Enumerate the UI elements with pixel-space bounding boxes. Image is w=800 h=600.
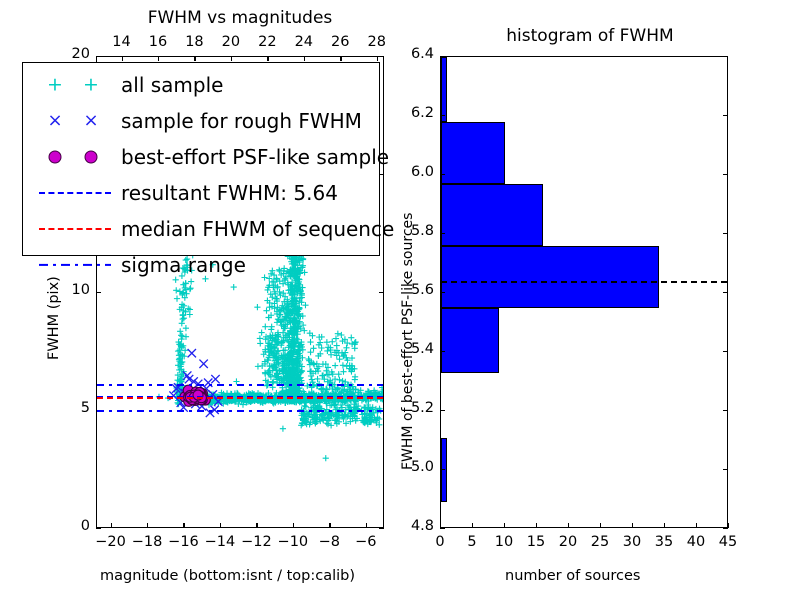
- legend-marker-dashed-line-icon: [29, 178, 121, 208]
- histogram-xtick: [632, 523, 633, 528]
- legend-entry: sigma range: [29, 247, 373, 283]
- legend-label: best-effort PSF-like sample: [121, 145, 389, 169]
- sigma-range-upper-line: [97, 384, 383, 386]
- histogram-ytick-right: [723, 469, 728, 470]
- histogram-xtick-label: 25: [583, 534, 617, 550]
- histogram-xtick: [504, 523, 505, 528]
- legend-label: resultant FWHM: 5.64: [121, 181, 338, 205]
- scatter-xtick: [366, 523, 367, 528]
- histogram-ytick: [440, 469, 445, 470]
- scatter-xtick: [183, 523, 184, 528]
- legend-marker-cross-icon: ××: [29, 106, 121, 136]
- legend-marker-plus-icon: ++: [29, 70, 121, 100]
- scatter-top-xtick-label: 20: [216, 34, 246, 50]
- histogram-ytick-label: 4.8: [396, 518, 434, 534]
- histogram-axes: [440, 56, 728, 528]
- histogram-xtick-label: 35: [647, 534, 681, 550]
- histogram-xtick-label: 10: [487, 534, 521, 550]
- scatter-xtick-label: −12: [239, 534, 273, 550]
- histogram-title: histogram of FWHM: [440, 26, 740, 46]
- histogram-xtick-label: 45: [711, 534, 745, 550]
- histogram-bar: [441, 246, 659, 308]
- histogram-xtick-label: 5: [455, 534, 489, 550]
- scatter-xtick-label: −14: [203, 534, 237, 550]
- histogram-ytick-right: [723, 351, 728, 352]
- histogram-ytick: [440, 233, 445, 234]
- histogram-resultant-fwhm-line: [441, 281, 727, 283]
- scatter-yaxis-label: FWHM (pix): [46, 276, 62, 360]
- histogram-ytick-label: 6.4: [396, 46, 434, 62]
- scatter-xtick: [293, 523, 294, 528]
- histogram-ytick: [440, 410, 445, 411]
- scatter-xtick-label: −20: [94, 534, 128, 550]
- histogram-bar: [441, 184, 543, 246]
- scatter-top-xtick: [231, 56, 232, 61]
- legend-marker-circle-icon: [29, 142, 121, 172]
- scatter-xtick: [147, 523, 148, 528]
- histogram-bar: [441, 57, 447, 122]
- scatter-xtick-label: −10: [276, 534, 310, 550]
- histogram-ytick: [440, 174, 445, 175]
- plot-legend: ++all sample××sample for rough FWHMbest-…: [22, 62, 380, 256]
- scatter-xtick: [111, 523, 112, 528]
- scatter-xaxis-label: magnitude (bottom:isnt / top:calib): [100, 568, 355, 584]
- scatter-top-xtick-label: 24: [289, 34, 319, 50]
- histogram-ytick-right: [723, 292, 728, 293]
- scatter-top-xtick-label: 14: [107, 34, 137, 50]
- histogram-xtick-label: 20: [551, 534, 585, 550]
- histogram-ytick-right: [723, 115, 728, 116]
- scatter-xtick-label: −18: [130, 534, 164, 550]
- scatter-top-xtick-label: 18: [179, 34, 209, 50]
- legend-label: sample for rough FWHM: [121, 109, 362, 133]
- histogram-bar: [441, 122, 505, 184]
- scatter-xtick-label: −6: [349, 534, 383, 550]
- scatter-top-xtick: [267, 56, 268, 61]
- histogram-xtick: [664, 523, 665, 528]
- scatter-ytick-right: [379, 292, 384, 293]
- legend-entry: resultant FWHM: 5.64: [29, 175, 373, 211]
- histogram-xtick: [472, 523, 473, 528]
- histogram-yaxis-label: FWHM of best-effort PSF-like sources: [400, 213, 416, 470]
- legend-entry: best-effort PSF-like sample: [29, 139, 373, 175]
- histogram-ytick-right: [723, 233, 728, 234]
- scatter-ytick-right: [379, 56, 384, 57]
- histogram-bar: [441, 308, 499, 373]
- histogram-xtick: [728, 523, 729, 528]
- scatter-ytick-right: [379, 528, 384, 529]
- scatter-xtick-label: −8: [312, 534, 346, 550]
- figure-canvas: FWHM vs magnitudes −20−18−16−14−12−10−8−…: [0, 0, 800, 600]
- scatter-xtick: [220, 523, 221, 528]
- scatter-xtick-label: −16: [166, 534, 200, 550]
- legend-entry: median FHWM of sequence: [29, 211, 373, 247]
- scatter-top-xtick-label: 28: [362, 34, 392, 50]
- histogram-xtick-label: 0: [423, 534, 457, 550]
- scatter-top-xtick-label: 22: [252, 34, 282, 50]
- histogram-ytick: [440, 56, 445, 57]
- histogram-ytick-label: 6.0: [396, 164, 434, 180]
- scatter-top-xtick: [304, 56, 305, 61]
- histogram-ytick-right: [723, 56, 728, 57]
- legend-label: all sample: [121, 73, 223, 97]
- scatter-ytick: [96, 292, 101, 293]
- scatter-xtick: [329, 523, 330, 528]
- histogram-ytick-right: [723, 410, 728, 411]
- scatter-top-xtick: [377, 56, 378, 61]
- histogram-ytick-label: 6.2: [396, 105, 434, 121]
- scatter-ytick-label: 0: [54, 518, 90, 534]
- legend-marker-dashed-line-icon: [29, 214, 121, 244]
- histogram-xtick-label: 30: [615, 534, 649, 550]
- histogram-xtick: [536, 523, 537, 528]
- scatter-ytick: [96, 528, 101, 529]
- scatter-ytick: [96, 56, 101, 57]
- legend-entry: ××sample for rough FWHM: [29, 103, 373, 139]
- histogram-xtick-label: 40: [679, 534, 713, 550]
- sigma-range-lower-line: [97, 410, 383, 412]
- histogram-ytick: [440, 351, 445, 352]
- scatter-top-xtick: [122, 56, 123, 61]
- scatter-ytick-label: 5: [54, 400, 90, 416]
- histogram-ytick: [440, 115, 445, 116]
- histogram-xtick: [600, 523, 601, 528]
- histogram-ytick: [440, 528, 445, 529]
- scatter-top-xtick: [340, 56, 341, 61]
- histogram-ytick: [440, 292, 445, 293]
- legend-label: sigma range: [121, 253, 246, 277]
- legend-marker-dashdot-line-icon: [29, 250, 121, 280]
- scatter-top-xtick: [194, 56, 195, 61]
- histogram-xtick: [568, 523, 569, 528]
- histogram-xtick-label: 15: [519, 534, 553, 550]
- scatter-plot-title: FWHM vs magnitudes: [96, 8, 384, 28]
- scatter-ytick-label: 20: [54, 46, 90, 62]
- median-fwhm-line: [97, 397, 383, 399]
- legend-entry: ++all sample: [29, 67, 373, 103]
- legend-label: median FHWM of sequence: [121, 217, 394, 241]
- scatter-xtick: [256, 523, 257, 528]
- histogram-xaxis-label: number of sources: [505, 568, 641, 584]
- scatter-top-xtick-label: 16: [143, 34, 173, 50]
- histogram-ytick-right: [723, 174, 728, 175]
- scatter-top-xtick: [158, 56, 159, 61]
- scatter-top-xtick-label: 26: [325, 34, 355, 50]
- histogram-xtick: [696, 523, 697, 528]
- histogram-ytick-right: [723, 528, 728, 529]
- histogram-bars-layer: [441, 57, 727, 527]
